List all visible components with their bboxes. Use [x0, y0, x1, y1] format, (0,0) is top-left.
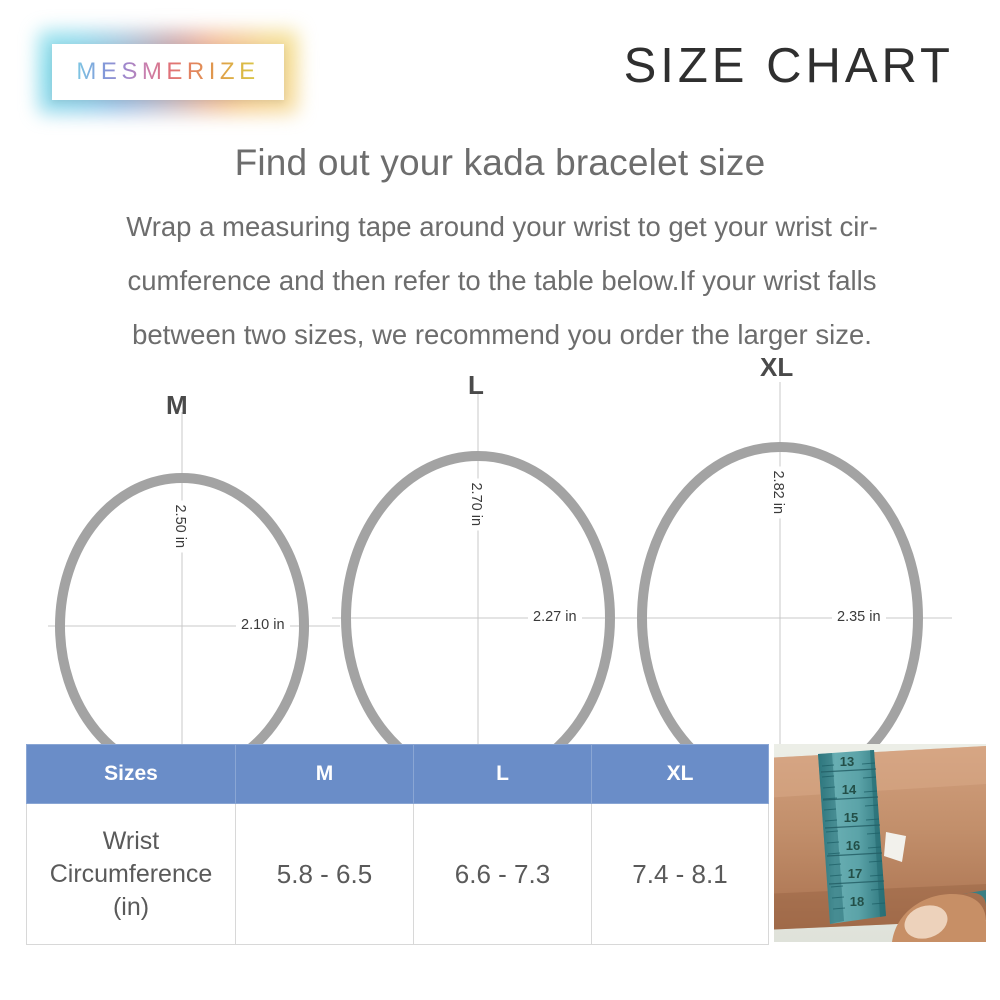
size-chart-page: MESMERIZE SIZE CHART Find out your kada … — [0, 0, 1000, 1000]
tape-number-16: 16 — [846, 838, 860, 853]
table-row: Wrist Circumference (in) 5.8 - 6.5 6.6 -… — [27, 804, 769, 945]
wrist-measuring-photo: 13 14 15 16 17 18 — [774, 744, 986, 942]
oval-xl-graphic — [628, 376, 960, 756]
tape-number-14: 14 — [842, 782, 857, 797]
size-table: Sizes M L XL Wrist Circumference (in) 5.… — [26, 744, 769, 945]
row-label-wrist-circumference: Wrist Circumference (in) — [27, 804, 236, 945]
brand-logo: MESMERIZE — [52, 44, 284, 100]
size-table-header: Sizes M L XL — [27, 745, 769, 804]
intro-line-2: cumference and then refer to the table b… — [52, 254, 952, 308]
tape-number-17: 17 — [848, 866, 862, 881]
intro-paragraph: Wrap a measuring tape around your wrist … — [52, 200, 952, 362]
bracelet-diagram-m: M 2.50 in 2.10 in — [56, 406, 324, 726]
table-header-m: M — [236, 745, 414, 804]
cell-wrist-m: 5.8 - 6.5 — [236, 804, 414, 945]
bracelet-diagrams: M 2.50 in 2.10 in L 2.70 in 2.27 in XL 2… — [0, 350, 1000, 750]
oval-m-graphic — [48, 406, 348, 746]
bracelet-diagram-l: L 2.70 in 2.27 in — [340, 386, 630, 734]
row-label-line-2: Circumference — [28, 858, 234, 891]
size-table-body: Wrist Circumference (in) 5.8 - 6.5 6.6 -… — [27, 804, 769, 945]
brand-card: MESMERIZE — [52, 44, 284, 100]
page-title: SIZE CHART — [624, 42, 954, 91]
oval-l-height-label: 2.70 in — [468, 478, 485, 530]
oval-m-label: M — [166, 392, 188, 418]
brand-name: MESMERIZE — [76, 60, 259, 84]
oval-xl-width-label: 2.35 in — [832, 609, 886, 626]
oval-m-width-label: 2.10 in — [236, 617, 290, 634]
intro-line-1: Wrap a measuring tape around your wrist … — [52, 200, 952, 254]
tape-number-18: 18 — [850, 894, 864, 909]
tape-number-13: 13 — [840, 754, 854, 769]
table-header-sizes: Sizes — [27, 745, 236, 804]
table-header-row: Sizes M L XL — [27, 745, 769, 804]
row-label-line-1: Wrist — [28, 825, 234, 858]
oval-l-label: L — [468, 372, 484, 398]
oval-xl-label: XL — [760, 354, 793, 380]
oval-l-graphic — [332, 386, 652, 754]
intro-heading: Find out your kada bracelet size — [0, 144, 1000, 181]
cell-wrist-xl: 7.4 - 8.1 — [592, 804, 769, 945]
cell-wrist-l: 6.6 - 7.3 — [414, 804, 592, 945]
bracelet-diagram-xl: XL 2.82 in 2.35 in — [636, 376, 940, 736]
table-header-l: L — [414, 745, 592, 804]
wrist-measuring-illustration: 13 14 15 16 17 18 — [774, 744, 986, 942]
tape-number-15: 15 — [844, 810, 858, 825]
table-header-xl: XL — [592, 745, 769, 804]
oval-xl-height-label: 2.82 in — [770, 466, 787, 518]
oval-l-width-label: 2.27 in — [528, 609, 582, 626]
row-label-line-3: (in) — [28, 891, 234, 924]
oval-m-height-label: 2.50 in — [172, 500, 189, 552]
